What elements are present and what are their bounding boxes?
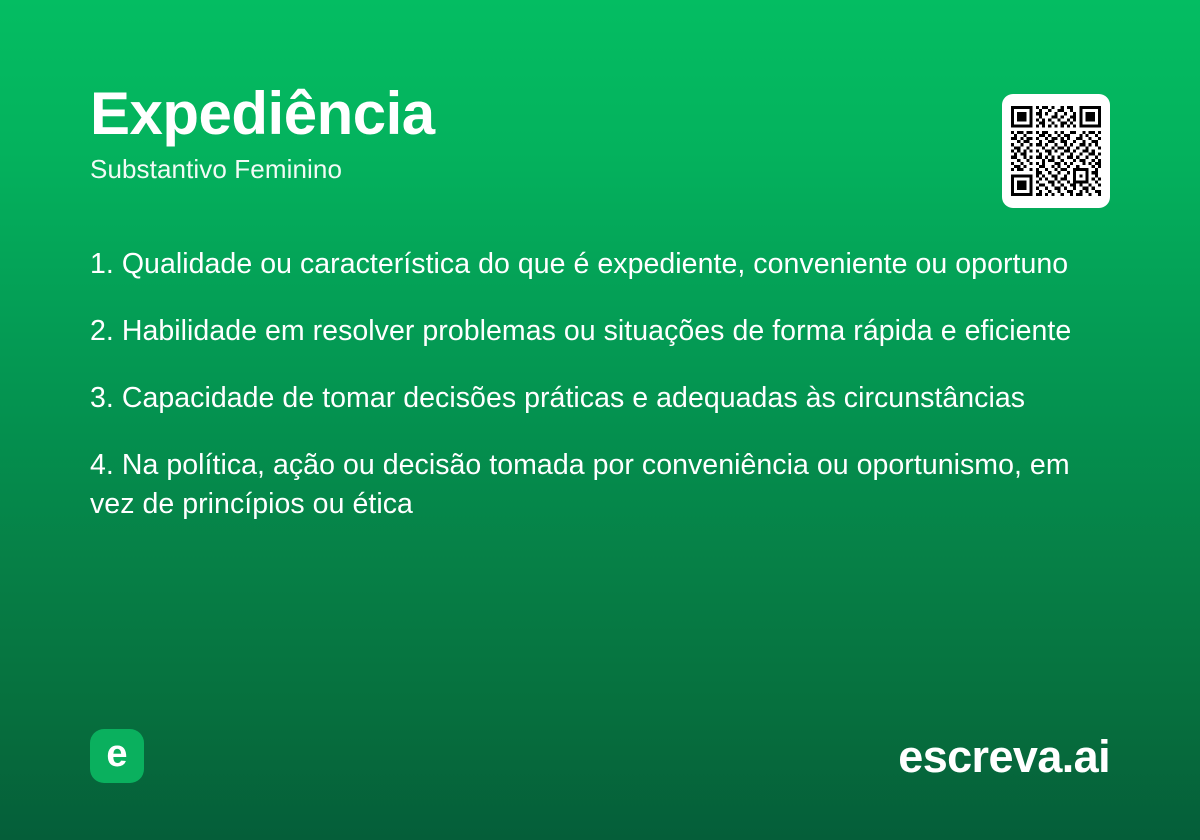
qr-code-panel[interactable] xyxy=(1002,94,1110,208)
word-class-label: Substantivo Feminino xyxy=(90,144,1110,182)
card-footer: e escreva.ai xyxy=(90,728,1110,784)
page-title: Expediência xyxy=(90,84,1110,144)
card-header: Expediência Substantivo Feminino xyxy=(90,84,1110,182)
list-item: 4. Na política, ação ou decisão tomada p… xyxy=(90,446,1090,524)
logo-letter: e xyxy=(106,735,127,773)
brand-wordmark: escreva.ai xyxy=(898,734,1110,779)
list-item: 2. Habilidade em resolver problemas ou s… xyxy=(90,312,1090,351)
qr-code-icon xyxy=(1011,103,1101,199)
definition-list: 1. Qualidade ou característica do que é … xyxy=(90,245,1090,524)
escreva-logo-icon[interactable]: e xyxy=(90,729,144,783)
list-item: 1. Qualidade ou característica do que é … xyxy=(90,245,1090,284)
definition-card: Expediência Substantivo Feminino xyxy=(0,0,1200,840)
list-item: 3. Capacidade de tomar decisões práticas… xyxy=(90,379,1090,418)
